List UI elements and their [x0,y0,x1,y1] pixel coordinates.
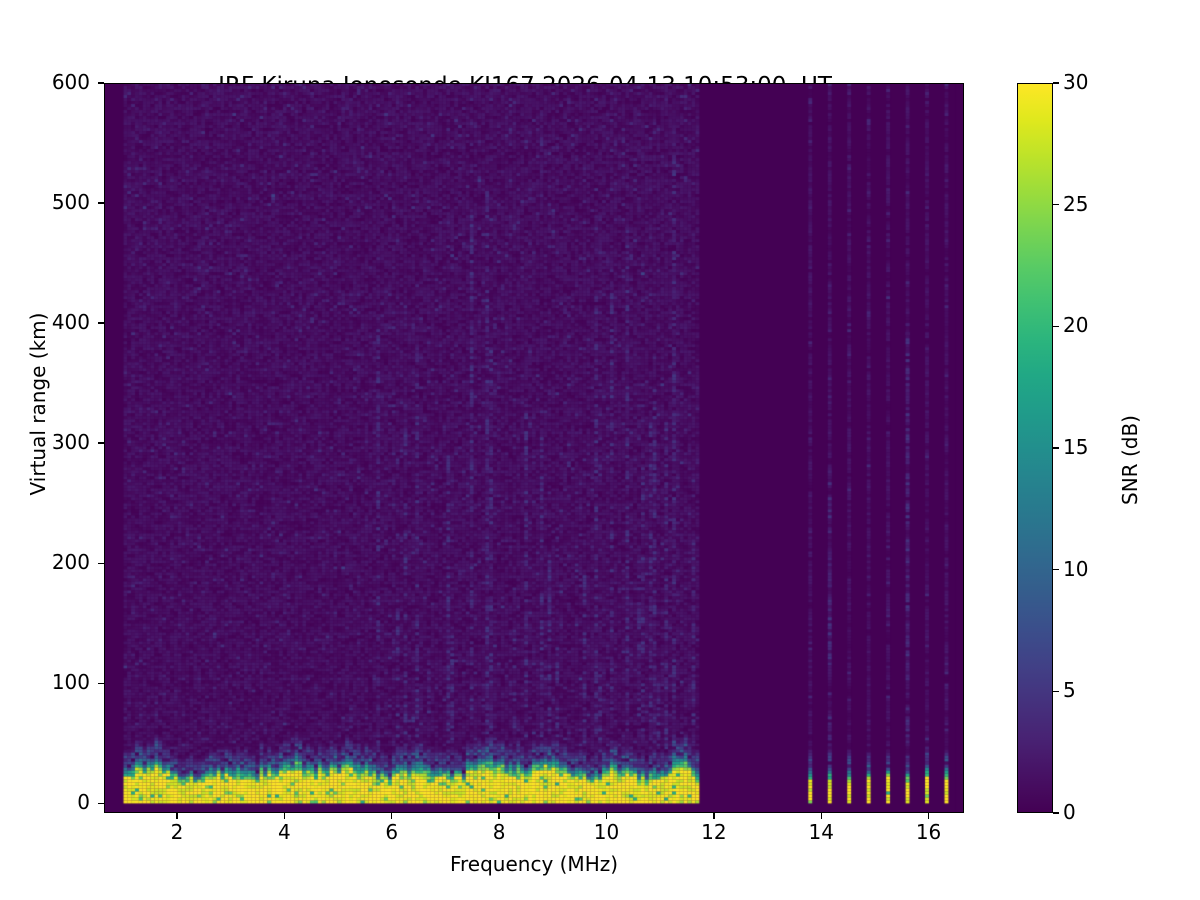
colorbar [1017,83,1053,813]
x-tick-label: 16 [889,820,969,844]
y-tick-mark [98,442,104,443]
colorbar-tick-label: 15 [1063,435,1088,459]
x-tick-label: 2 [137,820,217,844]
colorbar-tick-label: 25 [1063,192,1088,216]
y-tick-mark [98,563,104,564]
x-tick-mark [713,813,714,819]
x-tick-mark [498,813,499,819]
colorbar-label: SNR (dB) [1118,330,1142,590]
x-tick-mark [606,813,607,819]
y-tick-label: 600 [0,70,90,94]
colorbar-tick-mark [1053,812,1059,813]
y-tick-mark [98,683,104,684]
x-tick-label: 6 [352,820,432,844]
colorbar-tick-mark [1053,447,1059,448]
y-tick-label: 500 [0,190,90,214]
colorbar-tick-mark [1053,82,1059,83]
x-tick-label: 8 [459,820,539,844]
y-tick-mark [98,322,104,323]
colorbar-tick-label: 0 [1063,800,1076,824]
x-tick-label: 12 [674,820,754,844]
y-tick-mark [98,202,104,203]
x-tick-mark [176,813,177,819]
colorbar-tick-mark [1053,691,1059,692]
y-tick-label: 100 [0,670,90,694]
y-axis-label: Virtual range (km) [26,274,50,534]
x-tick-mark [928,813,929,819]
ionogram-heatmap [105,84,963,812]
ionogram-plot-area [104,83,964,813]
colorbar-tick-label: 20 [1063,313,1088,337]
x-tick-label: 4 [244,820,324,844]
colorbar-tick-label: 30 [1063,70,1088,94]
colorbar-tick-mark [1053,326,1059,327]
x-tick-mark [391,813,392,819]
x-tick-mark [284,813,285,819]
y-tick-mark [98,803,104,804]
x-tick-label: 10 [566,820,646,844]
x-axis-label: Frequency (MHz) [104,852,964,876]
y-tick-label: 200 [0,550,90,574]
colorbar-tick-label: 5 [1063,678,1076,702]
colorbar-tick-mark [1053,204,1059,205]
x-tick-label: 14 [781,820,861,844]
colorbar-tick-mark [1053,569,1059,570]
x-tick-mark [821,813,822,819]
colorbar-gradient [1018,84,1052,812]
colorbar-tick-label: 10 [1063,557,1088,581]
y-tick-mark [98,82,104,83]
y-tick-label: 0 [0,790,90,814]
